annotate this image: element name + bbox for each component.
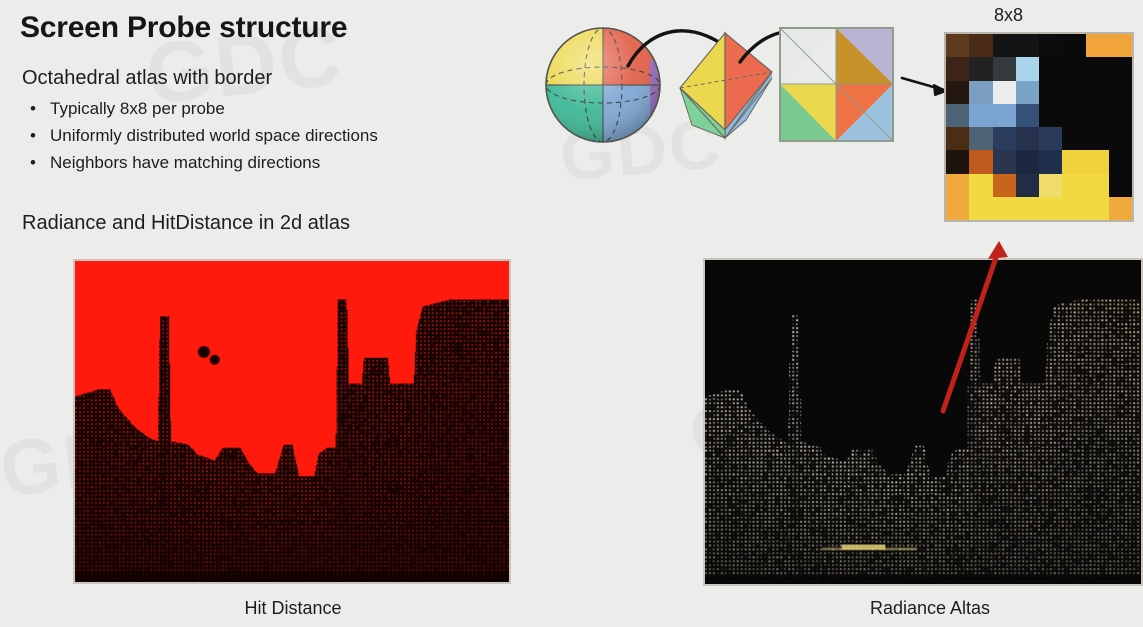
bullet-dot-icon: • (30, 122, 36, 149)
probe-pixel-6-0 (946, 174, 969, 197)
subheading: Radiance and HitDistance in 2d atlas (22, 212, 350, 235)
probe-pixel-1-5 (1062, 57, 1085, 80)
probe-pixel-6-7 (1109, 174, 1132, 197)
probe-pixel-3-7 (1109, 104, 1132, 127)
probe-pixel-3-4 (1039, 104, 1062, 127)
probe-pixel-3-2 (993, 104, 1016, 127)
probe-pixel-6-1 (969, 174, 992, 197)
octahedron-icon (680, 33, 772, 138)
probe-pixel-3-1 (969, 104, 992, 127)
probe-pixel-grid (946, 34, 1132, 220)
bullet-dot-icon: • (30, 95, 36, 122)
probe-pixel-1-1 (969, 57, 992, 80)
probe-pixel-6-3 (1016, 174, 1039, 197)
probe-pixel-3-6 (1086, 104, 1109, 127)
octahedral-mapping-diagram (540, 0, 960, 170)
probe-pixel-0-5 (1062, 34, 1085, 57)
probe-pixel-6-4 (1039, 174, 1062, 197)
arrow-square-to-probe (902, 78, 946, 95)
radiance-atlas (703, 258, 1143, 586)
bullet-list: • Typically 8x8 per probe • Uniformly di… (22, 95, 378, 176)
probe-size-label: 8x8 (994, 5, 1023, 26)
probe-pixel-6-2 (993, 174, 1016, 197)
probe-pixel-2-2 (993, 81, 1016, 104)
bullet-dot-icon: • (30, 149, 36, 176)
probe-pixel-7-4 (1039, 197, 1062, 220)
probe-pixel-3-3 (1016, 104, 1039, 127)
probe-pixel-2-5 (1062, 81, 1085, 104)
probe-pixel-5-2 (993, 150, 1016, 173)
probe-pixel-6-5 (1062, 174, 1085, 197)
probe-pixel-2-4 (1039, 81, 1062, 104)
probe-pixel-4-0 (946, 127, 969, 150)
probe-pixel-1-2 (993, 57, 1016, 80)
probe-pixel-0-2 (993, 34, 1016, 57)
probe-pixel-0-1 (969, 34, 992, 57)
probe-pixel-2-1 (969, 81, 992, 104)
list-item: • Neighbors have matching directions (22, 149, 378, 176)
probe-texture-8x8 (944, 32, 1134, 222)
lead-text: Octahedral atlas with border (22, 67, 272, 90)
radiance-atlas-caption: Radiance Altas (790, 598, 1070, 619)
list-item-label: Uniformly distributed world space direct… (50, 126, 378, 145)
probe-pixel-1-6 (1086, 57, 1109, 80)
probe-pixel-4-2 (993, 127, 1016, 150)
probe-pixel-4-4 (1039, 127, 1062, 150)
hit-distance-canvas (75, 261, 509, 582)
probe-pixel-0-3 (1016, 34, 1039, 57)
probe-pixel-4-5 (1062, 127, 1085, 150)
probe-pixel-5-4 (1039, 150, 1062, 173)
probe-pixel-7-3 (1016, 197, 1039, 220)
probe-pixel-2-3 (1016, 81, 1039, 104)
probe-pixel-4-3 (1016, 127, 1039, 150)
probe-pixel-5-0 (946, 150, 969, 173)
probe-pixel-3-5 (1062, 104, 1085, 127)
probe-pixel-3-0 (946, 104, 969, 127)
probe-pixel-1-7 (1109, 57, 1132, 80)
probe-pixel-2-6 (1086, 81, 1109, 104)
unwrapped-octahedral-square (780, 28, 893, 141)
probe-pixel-4-1 (969, 127, 992, 150)
probe-pixel-1-0 (946, 57, 969, 80)
probe-pixel-4-6 (1086, 127, 1109, 150)
radiance-atlas-canvas (705, 260, 1141, 584)
probe-pixel-7-7 (1109, 197, 1132, 220)
probe-pixel-1-4 (1039, 57, 1062, 80)
probe-pixel-2-0 (946, 81, 969, 104)
probe-pixel-1-3 (1016, 57, 1039, 80)
page-title: Screen Probe structure (20, 11, 347, 45)
probe-pixel-7-5 (1062, 197, 1085, 220)
probe-pixel-0-4 (1039, 34, 1062, 57)
list-item-label: Typically 8x8 per probe (50, 99, 225, 118)
probe-pixel-5-1 (969, 150, 992, 173)
probe-pixel-5-3 (1016, 150, 1039, 173)
list-item: • Typically 8x8 per probe (22, 95, 378, 122)
probe-pixel-6-6 (1086, 174, 1109, 197)
probe-pixel-7-1 (969, 197, 992, 220)
probe-pixel-7-2 (993, 197, 1016, 220)
hit-distance-atlas (73, 259, 511, 584)
probe-pixel-0-0 (946, 34, 969, 57)
probe-pixel-7-6 (1086, 197, 1109, 220)
probe-pixel-4-7 (1109, 127, 1132, 150)
probe-pixel-0-7 (1109, 34, 1132, 57)
probe-pixel-5-5 (1062, 150, 1085, 173)
list-item-label: Neighbors have matching directions (50, 153, 320, 172)
probe-pixel-0-6 (1086, 34, 1109, 57)
probe-pixel-5-6 (1086, 150, 1109, 173)
probe-pixel-7-0 (946, 197, 969, 220)
probe-pixel-5-7 (1109, 150, 1132, 173)
slide-root: GDC GDC GDC GDC Screen Probe structure O… (0, 0, 1143, 627)
probe-pixel-2-7 (1109, 81, 1132, 104)
hit-distance-caption: Hit Distance (153, 598, 433, 619)
list-item: • Uniformly distributed world space dire… (22, 122, 378, 149)
